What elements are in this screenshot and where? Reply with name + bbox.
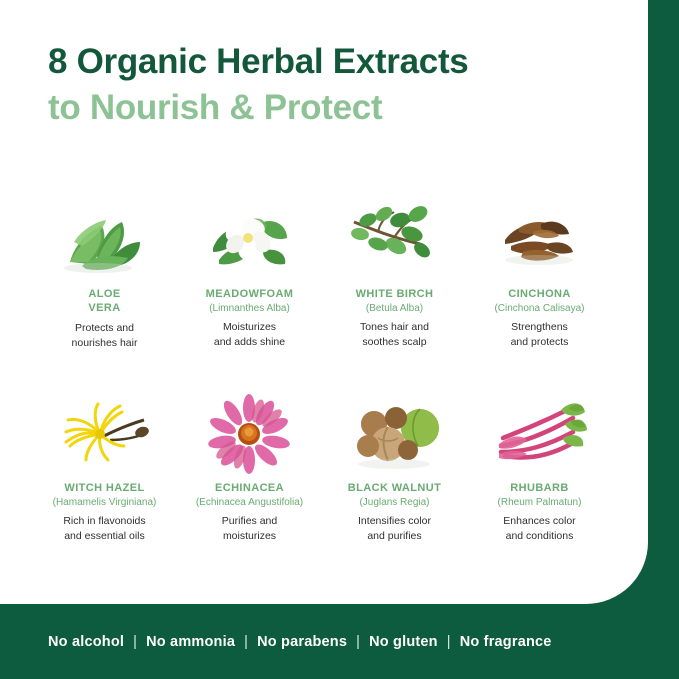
claim-no-gluten: No gluten (369, 634, 438, 650)
extract-desc-line2: and purifies (367, 530, 421, 542)
claim-separator: | (133, 634, 137, 650)
extract-desc-line1: Purifies and (222, 515, 277, 527)
claim-separator: | (356, 634, 360, 650)
claim-no-ammonia: No ammonia (146, 634, 235, 650)
extract-description: Enhances color and conditions (503, 514, 575, 544)
extract-row-2: WITCH HAZEL (Hamamelis Virginiana) Rich … (32, 390, 612, 544)
rhubarb-stalks-icon (477, 390, 602, 476)
extract-name: BLACK WALNUT (348, 482, 441, 496)
extract-desc-line1: Tones hair and (360, 321, 429, 333)
extract-card-meadowfoam: MEADOWFOAM (Limnanthes Alba) Moisturizes… (177, 196, 322, 351)
aloe-vera-icon (42, 196, 167, 282)
claim-separator: | (447, 634, 451, 650)
extract-description: Intensifies color and purifies (358, 514, 431, 544)
extract-desc-line2: and conditions (506, 530, 574, 542)
extract-description: Strengthens and protects (511, 320, 569, 350)
white-birch-branch-icon (332, 196, 457, 282)
extract-desc-line2: and essential oils (64, 530, 145, 542)
claim-no-fragrance: No fragrance (460, 634, 552, 650)
extract-description: Purifies and moisturizes (222, 514, 277, 544)
extract-description: Tones hair and soothes scalp (360, 320, 429, 350)
extract-desc-line1: Enhances color (503, 515, 575, 527)
black-walnut-icon (332, 390, 457, 476)
extract-description: Protects and nourishes hair (72, 321, 138, 351)
title-line-primary: 8 Organic Herbal Extracts (48, 42, 618, 82)
extract-card-white-birch: WHITE BIRCH (Betula Alba) Tones hair and… (322, 196, 467, 351)
extract-latin-name: (Rheum Palmatun) (498, 496, 582, 509)
extract-name: WHITE BIRCH (356, 288, 434, 302)
footer-claims-bar: No alcohol | No ammonia | No parabens | … (0, 604, 679, 679)
claim-no-alcohol: No alcohol (48, 634, 124, 650)
extract-desc-line1: Rich in flavonoids (63, 515, 145, 527)
extract-name: RHUBARB (510, 482, 568, 496)
extract-row-1: ALOE VERA Protects and nourishes hair (32, 196, 612, 351)
extract-desc-line1: Protects and (75, 322, 134, 334)
extract-latin-name: (Juglans Regia) (359, 496, 429, 509)
extract-name: WITCH HAZEL (64, 482, 144, 496)
extract-latin-name: (Cinchona Calisaya) (494, 302, 584, 315)
extract-name-line2: VERA (88, 302, 120, 314)
extract-desc-line1: Strengthens (511, 321, 568, 333)
title-line-secondary: to Nourish & Protect (48, 88, 618, 128)
extract-latin-name: (Hamamelis Virginiana) (53, 496, 157, 509)
extract-name: ECHINACEA (215, 482, 284, 496)
meadowfoam-flower-icon (187, 196, 312, 282)
extract-latin-name: (Limnanthes Alba) (209, 302, 290, 315)
extract-latin-name: (Betula Alba) (366, 302, 423, 315)
extract-desc-line2: nourishes hair (72, 337, 138, 349)
extract-card-echinacea: ECHINACEA (Echinacea Angustifolia) Purif… (177, 390, 322, 544)
echinacea-flower-icon (187, 390, 312, 476)
page-title: 8 Organic Herbal Extracts to Nourish & P… (48, 42, 618, 129)
extract-card-cinchona: CINCHONA (Cinchona Calisaya) Strengthens… (467, 196, 612, 351)
extract-card-witch-hazel: WITCH HAZEL (Hamamelis Virginiana) Rich … (32, 390, 177, 544)
extract-description: Moisturizes and adds shine (214, 320, 285, 350)
extract-desc-line2: soothes scalp (362, 336, 426, 348)
extract-desc-line2: and adds shine (214, 336, 285, 348)
extract-name: CINCHONA (508, 288, 570, 302)
extract-name: ALOE VERA (88, 288, 120, 316)
cinchona-bark-icon (477, 196, 602, 282)
claim-separator: | (244, 634, 248, 650)
extract-desc-line2: moisturizes (223, 530, 276, 542)
extract-card-black-walnut: BLACK WALNUT (Juglans Regia) Intensifies… (322, 390, 467, 544)
extract-description: Rich in flavonoids and essential oils (63, 514, 145, 544)
extract-latin-name: (Echinacea Angustifolia) (196, 496, 303, 509)
extract-desc-line1: Moisturizes (223, 321, 276, 333)
extract-name-line1: ALOE (88, 288, 120, 300)
extract-card-rhubarb: RHUBARB (Rheum Palmatun) Enhances color … (467, 390, 612, 544)
claim-no-parabens: No parabens (257, 634, 347, 650)
extract-desc-line1: Intensifies color (358, 515, 431, 527)
infographic-page: 8 Organic Herbal Extracts to Nourish & P… (0, 0, 679, 679)
extract-name: MEADOWFOAM (206, 288, 294, 302)
witch-hazel-flower-icon (42, 390, 167, 476)
extract-card-aloe-vera: ALOE VERA Protects and nourishes hair (32, 196, 177, 351)
extract-desc-line2: and protects (511, 336, 569, 348)
